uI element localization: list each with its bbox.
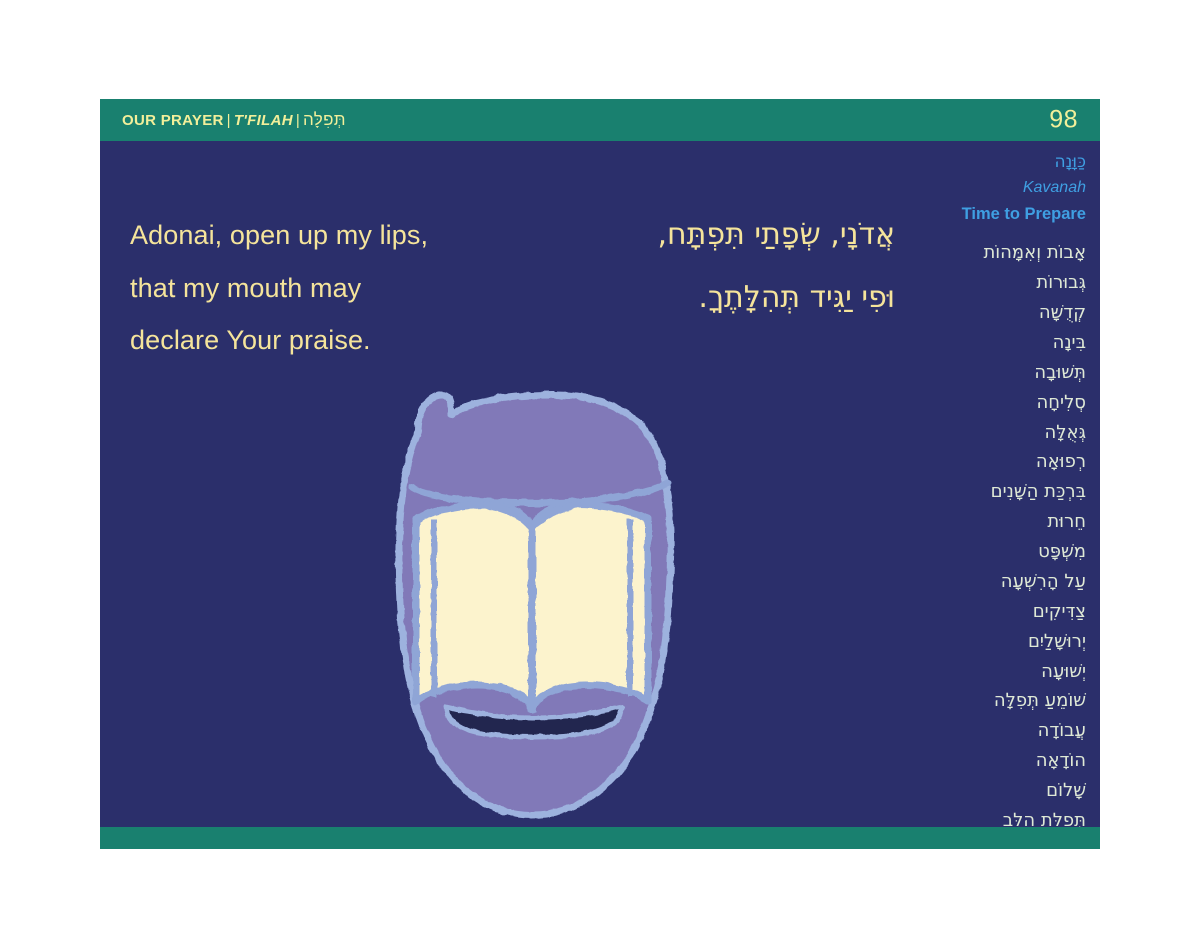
prayer-section-item[interactable]: הוֹדָאָה — [921, 746, 1086, 776]
prayer-section-item[interactable]: מִשְׁפָּט — [921, 537, 1086, 567]
prayer-section-item[interactable]: שָׁלוֹם — [921, 776, 1086, 806]
prayer-section-item[interactable]: אָבוֹת וְאִמָּהוֹת — [921, 238, 1086, 268]
kavanah-sidebar: כַּוָּנָה Kavanah Time to Prepare אָבוֹת… — [921, 149, 1086, 836]
prayer-section-item[interactable]: בִּינָה — [921, 328, 1086, 358]
mouth-with-open-book-illustration — [368, 379, 698, 831]
prayer-section-item[interactable]: שׁוֹמֵעַ תְּפִלָּה — [921, 686, 1086, 716]
english-line-2: that my mouth may — [130, 262, 510, 315]
prayer-book-page: OUR PRAYER|T'FILAH|תְּפִלָּה 98 Adonai, … — [100, 99, 1100, 849]
hebrew-line-1: אֲדֹנָי, שְׂפָתַי תִּפְתָּח, — [540, 203, 895, 266]
english-prayer-text: Adonai, open up my lips, that my mouth m… — [130, 209, 510, 367]
hebrew-prayer-text: אֲדֹנָי, שְׂפָתַי תִּפְתָּח, וּפִי יַגִּ… — [540, 203, 895, 329]
kavanah-transliteration: Kavanah — [921, 175, 1086, 201]
prayer-section-item[interactable]: חֵרוּת — [921, 507, 1086, 537]
prayer-section-item[interactable]: בִּרְכַּת הַשָּׁנִים — [921, 477, 1086, 507]
header-title-translit: T'FILAH — [234, 112, 293, 129]
prayer-section-item[interactable]: תְּשׁוּבָה — [921, 358, 1086, 388]
prayer-section-item[interactable]: יְרוּשָׁלַיִם — [921, 627, 1086, 657]
page-header-bar: OUR PRAYER|T'FILAH|תְּפִלָּה 98 — [100, 99, 1100, 141]
english-line-3: declare Your praise. — [130, 314, 510, 367]
header-separator-2: | — [293, 112, 303, 129]
prayer-section-item[interactable]: גְּבוּרוֹת — [921, 268, 1086, 298]
prayer-section-item[interactable]: עֲבוֹדָה — [921, 716, 1086, 746]
prayer-section-list: אָבוֹת וְאִמָּהוֹתגְּבוּרוֹתקְדֻשָּׁהבִּ… — [921, 238, 1086, 836]
prayer-section-item[interactable]: רְפוּאָה — [921, 447, 1086, 477]
prayer-section-item[interactable]: יְשׁוּעָה — [921, 657, 1086, 687]
kavanah-english-label: Time to Prepare — [921, 201, 1086, 227]
prayer-section-item[interactable]: עַל הָרִשְׁעָה — [921, 567, 1086, 597]
prayer-section-item[interactable]: סְלִיחָה — [921, 388, 1086, 418]
english-line-1: Adonai, open up my lips, — [130, 209, 510, 262]
mouth-book-icon — [368, 379, 698, 831]
prayer-section-item[interactable]: קְדֻשָּׁה — [921, 298, 1086, 328]
kavanah-hebrew-heading: כַּוָּנָה — [921, 149, 1086, 175]
prayer-section-item[interactable]: גְּאֻלָּה — [921, 418, 1086, 448]
page-footer-bar — [100, 827, 1100, 849]
hebrew-line-2: וּפִי יַגִּיד תְּהִלָּתֶךָ. — [540, 266, 895, 329]
header-title-hebrew: תְּפִלָּה — [303, 110, 346, 129]
page-body: Adonai, open up my lips, that my mouth m… — [100, 141, 1100, 827]
header-title: OUR PRAYER|T'FILAH|תְּפִלָּה — [122, 110, 346, 130]
prayer-section-item[interactable]: צַדִּיקִים — [921, 597, 1086, 627]
header-separator-1: | — [224, 112, 234, 129]
header-title-english: OUR PRAYER — [122, 112, 224, 129]
page-number: 98 — [1049, 106, 1078, 135]
